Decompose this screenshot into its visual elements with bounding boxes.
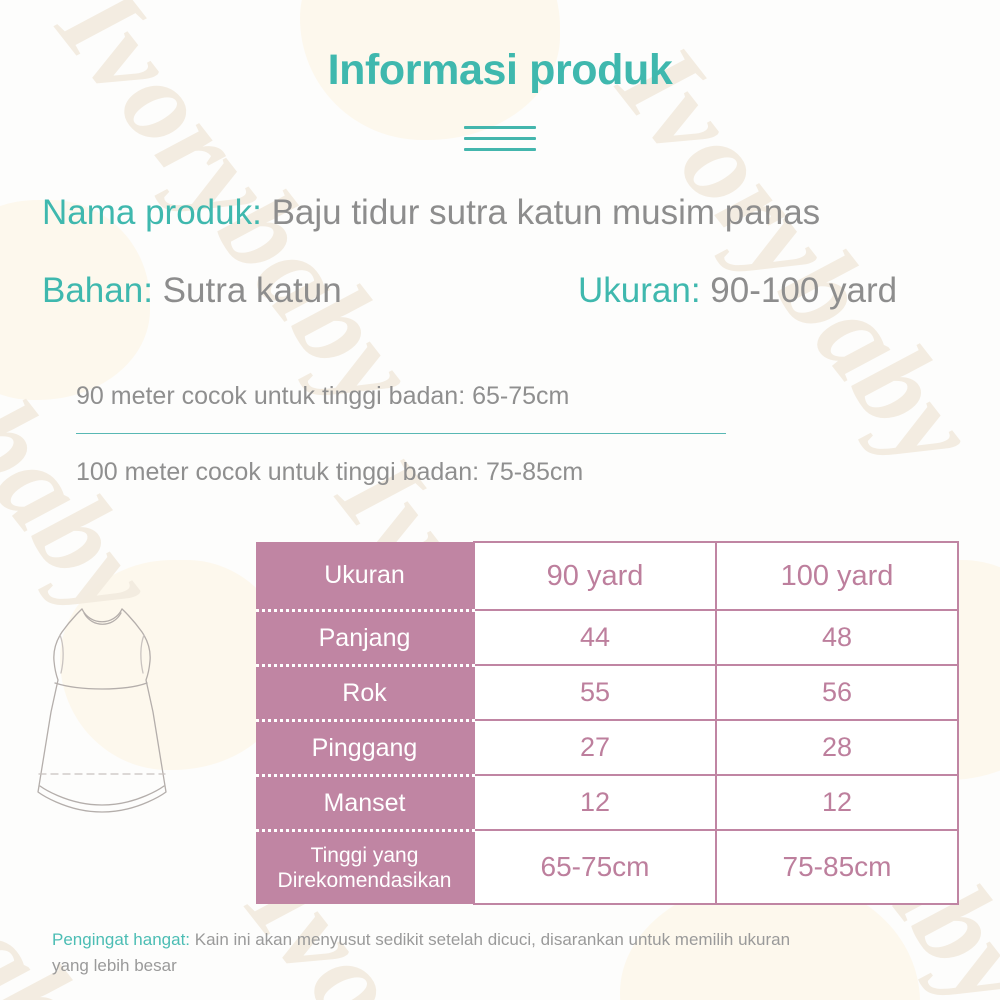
table-row-label: Pinggang (256, 720, 474, 775)
product-info-infographic: Ivorybaby Ivorybaby Ivorybaby Ivorybaby … (0, 0, 1000, 1000)
table-cell-90: 27 (474, 720, 716, 775)
title-divider-ornament (464, 126, 536, 156)
table-row-label-line2: Direkomendasikan (256, 868, 473, 893)
spec-material: Bahan: Sutra katun (42, 271, 342, 311)
table-cell-100: 48 (716, 610, 958, 665)
table-cell-100: 56 (716, 665, 958, 720)
sleeveless-dress-icon (20, 560, 245, 840)
table-row: Manset 12 12 (256, 775, 958, 830)
spec-value: Sutra katun (163, 271, 342, 310)
footer-label: Pengingat hangat: (52, 930, 190, 949)
table-row: Rok 55 56 (256, 665, 958, 720)
table-cell-90: 44 (474, 610, 716, 665)
table-row: Panjang 44 48 (256, 610, 958, 665)
footer-note: Pengingat hangat: Kain ini akan menyusut… (52, 927, 792, 980)
divider-line (464, 126, 536, 129)
table-row-label: Manset (256, 775, 474, 830)
divider-line (464, 148, 536, 151)
table-cell-100: 75-85cm (716, 830, 958, 904)
spec-value: Baju tidur sutra katun musim panas (272, 193, 821, 232)
table-cell-100: 12 (716, 775, 958, 830)
table-cell-100: 28 (716, 720, 958, 775)
table-row-label: Panjang (256, 610, 474, 665)
table-cell-90: 90 yard (474, 542, 716, 610)
table-cell-90: 55 (474, 665, 716, 720)
table-row: Tinggi yang Direkomendasikan 65-75cm 75-… (256, 830, 958, 904)
divider-line (464, 137, 536, 140)
table-cell-90: 12 (474, 775, 716, 830)
table-cell-90: 65-75cm (474, 830, 716, 904)
table-row-label: Ukuran (256, 542, 474, 610)
height-notes-divider (76, 433, 726, 434)
page-title: Informasi produk (0, 46, 1000, 95)
spec-label: Nama produk: (42, 193, 262, 232)
table-row: Pinggang 27 28 (256, 720, 958, 775)
spec-label: Ukuran: (578, 271, 701, 310)
spec-product-name: Nama produk: Baju tidur sutra katun musi… (42, 193, 820, 233)
height-note-90: 90 meter cocok untuk tinggi badan: 65-75… (76, 382, 569, 411)
table-cell-100: 100 yard (716, 542, 958, 610)
table-row-label: Tinggi yang Direkomendasikan (256, 830, 474, 904)
spec-label: Bahan: (42, 271, 153, 310)
table-row-label: Rok (256, 665, 474, 720)
height-note-100: 100 meter cocok untuk tinggi badan: 75-8… (76, 458, 583, 487)
spec-size: Ukuran: 90-100 yard (578, 271, 897, 311)
table-row-label-line1: Tinggi yang (256, 843, 473, 868)
table-row: Ukuran 90 yard 100 yard (256, 542, 958, 610)
size-table: Ukuran 90 yard 100 yard Panjang 44 48 Ro… (256, 541, 959, 905)
spec-value: 90-100 yard (710, 271, 897, 310)
